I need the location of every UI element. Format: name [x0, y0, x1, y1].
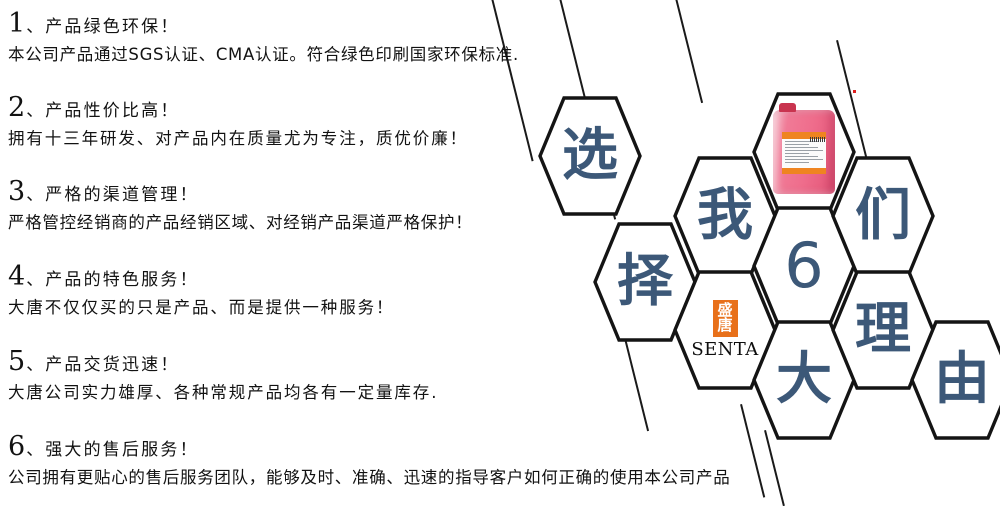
hex-label-you: 由: [910, 320, 1000, 440]
hex-cell-men: 们: [831, 156, 935, 276]
honeycomb-slogan-graphic: 选 择 我 盛 唐 SENTA: [0, 0, 1000, 500]
jerrycan-body: [773, 110, 835, 194]
label-barcode-icon: [810, 137, 825, 142]
hex-label-men: 们: [831, 156, 935, 276]
jerrycan-cap: [779, 103, 796, 112]
label-brand-badge: [782, 132, 794, 139]
hex-label-xuan: 选: [538, 96, 642, 216]
brand-mark-char-bottom: 唐: [717, 318, 732, 333]
brand-seal-icon: 盛 唐: [713, 300, 738, 336]
hex-cell-you: 由: [910, 320, 1000, 440]
brand-name-text: SENTA: [691, 339, 758, 360]
hex-cell-xuan: 选: [538, 96, 642, 216]
